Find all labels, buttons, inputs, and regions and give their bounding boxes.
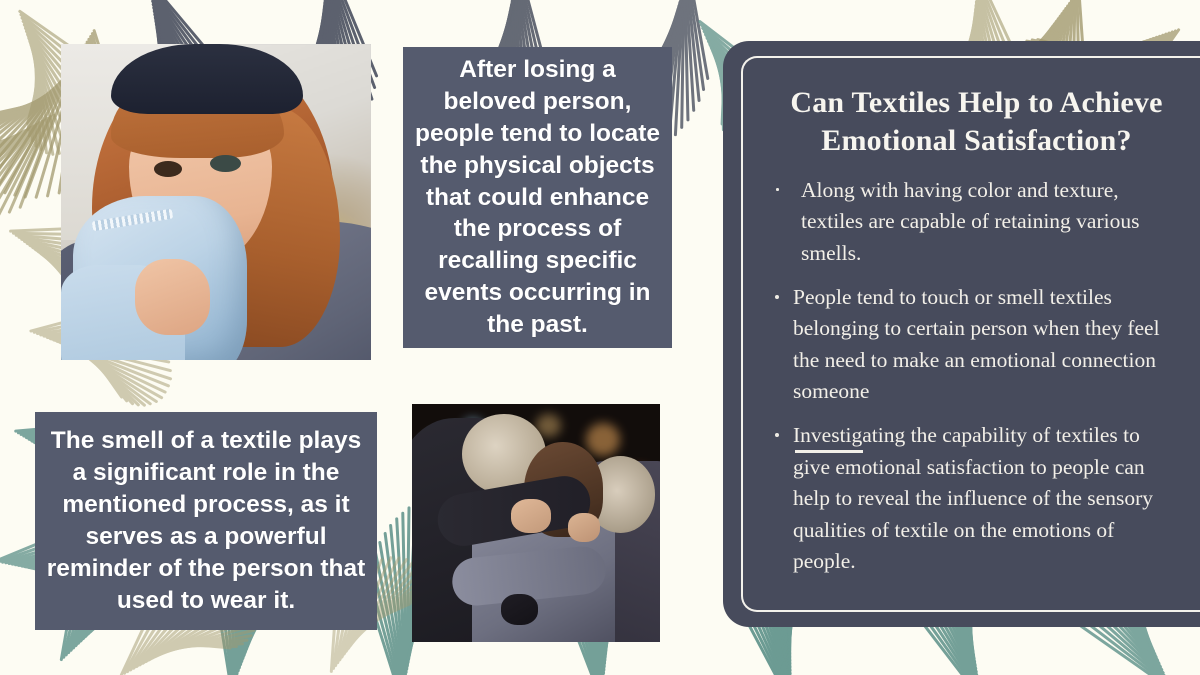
content-panel: Can Textiles Help to Achieve Emotional S… [723, 41, 1200, 627]
bullet-dot-icon [775, 295, 779, 299]
photo-woman-smelling-textile [61, 44, 371, 360]
bullet-text: People tend to touch or smell textiles b… [793, 285, 1160, 404]
quote-top-text: After losing a beloved person, people te… [403, 54, 672, 341]
bullet-dot-icon [776, 188, 779, 191]
quote-bottom-text: The smell of a textile plays a significa… [35, 425, 377, 616]
bullet-item: Along with having color and texture, tex… [771, 175, 1182, 270]
underline-artifact [795, 450, 863, 453]
panel-title: Can Textiles Help to Achieve Emotional S… [771, 84, 1182, 161]
quote-box-top: After losing a beloved person, people te… [403, 47, 672, 348]
bullet-item: Investigating the capability of textiles… [771, 420, 1182, 578]
bullet-item: People tend to touch or smell textiles b… [771, 282, 1182, 408]
quote-box-bottom: The smell of a textile plays a significa… [35, 412, 377, 630]
bullet-list: Along with having color and texture, tex… [771, 175, 1182, 578]
bullet-text: Investigating the capability of textiles… [793, 423, 1153, 573]
content-panel-inner: Can Textiles Help to Achieve Emotional S… [741, 56, 1200, 612]
slide-canvas: After losing a beloved person, people te… [0, 0, 1200, 675]
photo-people-embracing [412, 404, 660, 642]
bullet-dot-icon [775, 433, 779, 437]
bullet-text: Along with having color and texture, tex… [801, 178, 1139, 265]
